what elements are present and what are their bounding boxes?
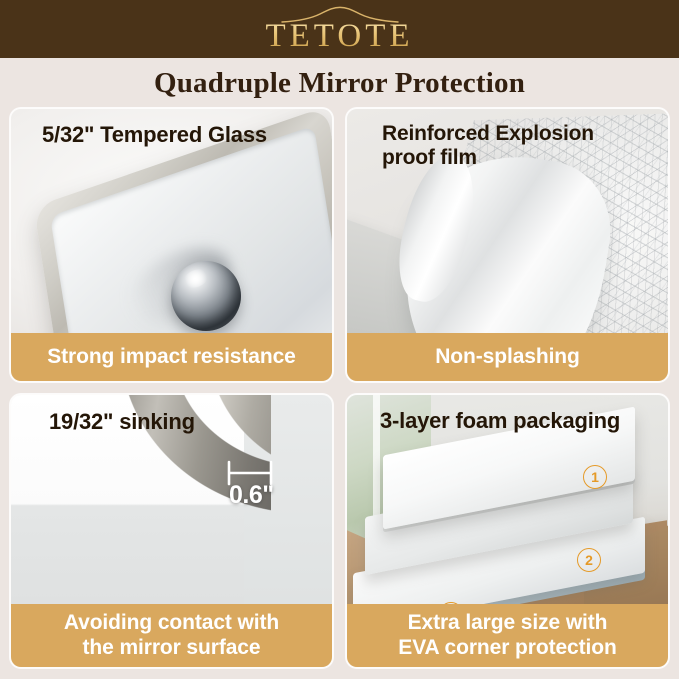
steel-ball-graphic — [171, 261, 241, 331]
feature-caption: Non-splashing — [347, 333, 668, 381]
page-title: Quadruple Mirror Protection — [0, 60, 679, 106]
feature-heading: 3-layer foam packaging — [380, 409, 620, 434]
layer-badge-1: 1 — [583, 465, 607, 489]
peeling-explosion-proof-film-photo: Reinforced Explosion proof film — [347, 109, 668, 333]
feature-caption: Avoiding contact with the mirror surface — [11, 604, 332, 667]
feature-card-explosion-proof-film: Reinforced Explosion proof film Non-spla… — [346, 108, 669, 382]
infographic-page: TETOTE Quadruple Mirror Protection 5/32"… — [0, 0, 679, 679]
dimension-label: 0.6" — [229, 481, 274, 510]
feature-caption: Strong impact resistance — [11, 333, 332, 381]
stacked-foam-layers-in-carton-photo: 1 2 3 3-layer foam packaging — [347, 395, 668, 604]
layer-badge-2: 2 — [577, 548, 601, 572]
feature-heading: 5/32" Tempered Glass — [42, 123, 267, 148]
brand-header-bar: TETOTE — [0, 0, 679, 58]
brand-name: TETOTE — [263, 20, 415, 53]
feature-caption-line-2: the mirror surface — [64, 636, 279, 661]
feature-caption-line-1: Extra large size with — [398, 611, 616, 636]
feature-card-sinking-depth: 0.6" 19/32" sinking Avoiding contact wit… — [10, 394, 333, 668]
brand-lockup: TETOTE — [263, 6, 415, 53]
feature-heading-line-2: proof film — [382, 146, 594, 170]
steel-ball-impact-mirror-photo: 5/32" Tempered Glass — [11, 109, 332, 333]
feature-card-tempered-glass: 5/32" Tempered Glass Strong impact resis… — [10, 108, 333, 382]
feature-caption-line-1: Avoiding contact with — [64, 611, 279, 636]
feature-grid: 5/32" Tempered Glass Strong impact resis… — [10, 108, 669, 668]
feature-heading: 19/32" sinking — [49, 410, 195, 435]
feature-heading-line-1: Reinforced Explosion — [382, 122, 594, 146]
curved-mirror-frame-profile-photo: 0.6" 19/32" sinking — [11, 395, 332, 604]
feature-heading: Reinforced Explosion proof film — [382, 122, 594, 169]
feature-caption-line-2: EVA corner protection — [398, 636, 616, 661]
feature-card-foam-packaging: 1 2 3 3-layer foam packaging Extra large… — [346, 394, 669, 668]
feature-caption: Extra large size with EVA corner protect… — [347, 604, 668, 667]
